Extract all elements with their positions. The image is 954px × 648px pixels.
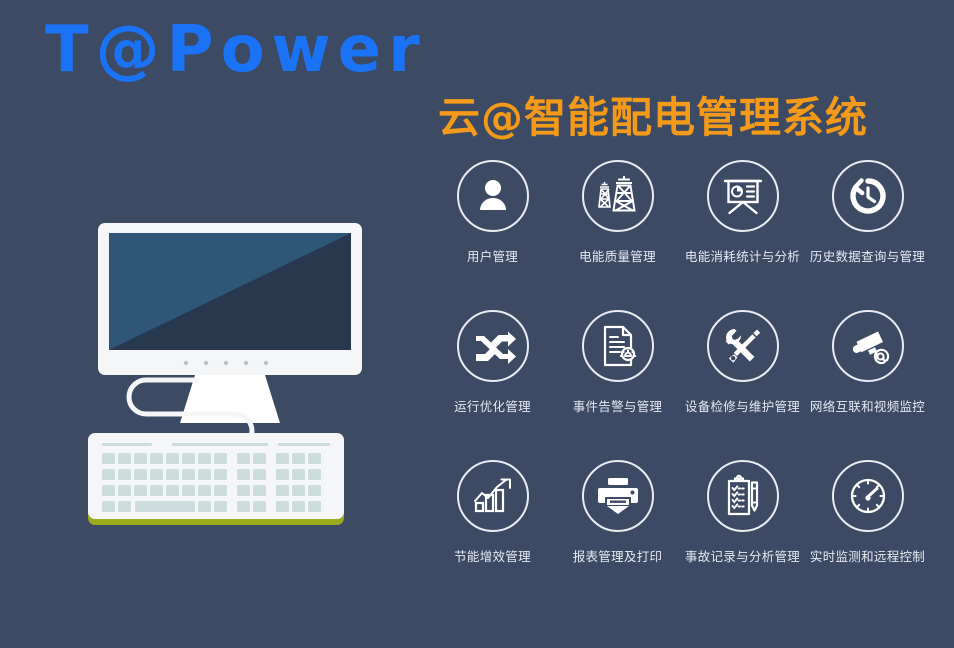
system-subtitle: 云@智能配电管理系统 [438,97,868,139]
feature-label: 电能质量管理 [579,246,656,265]
feature-label: 实时监测和远程控制 [810,546,925,565]
feature-label: 事故记录与分析管理 [685,546,800,565]
feature-item-user-management[interactable]: 用户管理 [430,160,555,310]
feature-item-energy-saving[interactable]: 节能增效管理 [430,460,555,610]
feature-item-consumption-analysis[interactable]: 电能消耗统计与分析 [680,160,805,310]
feature-grid: 用户管理 [430,160,930,610]
feature-item-operation-optimization[interactable]: 运行优化管理 [430,310,555,460]
feature-label: 用户管理 [467,246,518,265]
feature-item-report-printing[interactable]: 报表管理及打印 [555,460,680,610]
feature-item-accident-record[interactable]: 事故记录与分析管理 [680,460,805,610]
feature-label: 历史数据查询与管理 [810,246,925,265]
feature-item-realtime-monitoring[interactable]: 实时监测和远程控制 [805,460,930,610]
gauge-meter-icon [832,460,904,532]
security-camera-at-icon [832,310,904,382]
feature-label: 运行优化管理 [454,396,531,415]
feature-item-history-data[interactable]: 历史数据查询与管理 [805,160,930,310]
clipboard-checklist-icon [707,460,779,532]
feature-label: 设备检修与维护管理 [685,396,800,415]
feature-label: 网络互联和视频监控 [810,396,925,415]
document-alert-icon [582,310,654,382]
brand-title: T@Power [45,18,427,82]
feature-label: 电能消耗统计与分析 [685,246,800,265]
shuffle-arrows-icon [457,310,529,382]
feature-label: 报表管理及打印 [573,546,663,565]
poster-canvas: T@Power 云@智能配电管理系统 [0,0,954,648]
keyboard-icon [88,433,344,525]
desktop-computer-illustration [80,205,380,545]
monitor-icon [98,223,362,423]
feature-item-power-quality[interactable]: 电能质量管理 [555,160,680,310]
history-clock-icon [832,160,904,232]
bar-chart-growth-icon [457,460,529,532]
presentation-chart-icon [707,160,779,232]
feature-item-event-alarm[interactable]: 事件告警与管理 [555,310,680,460]
user-icon [457,160,529,232]
feature-item-maintenance[interactable]: 设备检修与维护管理 [680,310,805,460]
power-tower-icon [582,160,654,232]
printer-icon [582,460,654,532]
feature-item-video-monitoring[interactable]: 网络互联和视频监控 [805,310,930,460]
feature-label: 节能增效管理 [454,546,531,565]
wrench-screwdriver-icon [707,310,779,382]
feature-label: 事件告警与管理 [573,396,663,415]
